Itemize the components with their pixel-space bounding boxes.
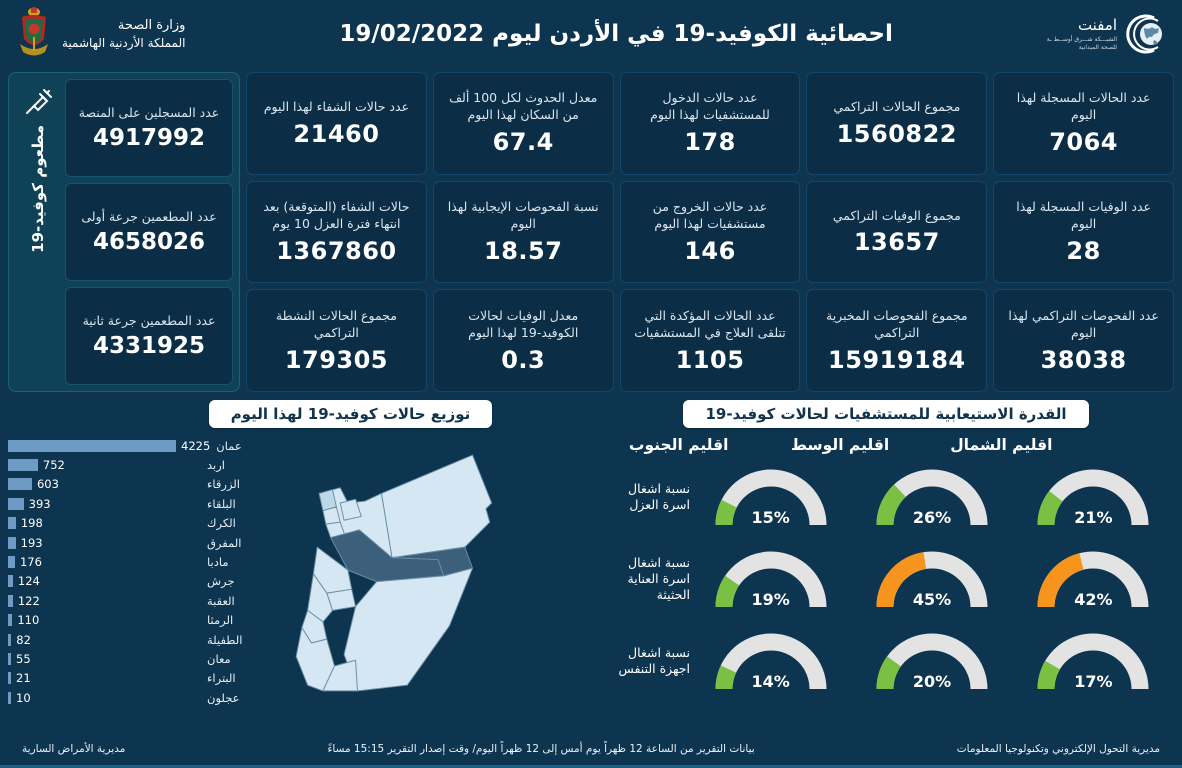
stat-card-first-dose: عدد المطعمين جرعة أولى 4658026 — [65, 183, 233, 281]
bar-track: 198 — [8, 516, 201, 530]
bar-row: جرش124 — [8, 572, 263, 591]
bar-category-label: العقبة — [201, 594, 263, 608]
dashboard-page: امفنت الشبـــكة شـــرق أوســط ـة للصحة ا… — [0, 0, 1182, 768]
stat-label: عدد الوفيات المسجلة لهذا اليوم — [1002, 199, 1165, 233]
bar-value-label: 110 — [17, 613, 39, 627]
gauge-cell: 45% — [851, 538, 1012, 620]
ministry-text: وزارة الصحة المملكة الأردنية الهاشمية — [62, 17, 185, 51]
row-label-isolation: نسبة اشغال اسرة العزل — [598, 456, 690, 538]
stat-label: عدد الفحوصات التراكمي لهذا اليوم — [1002, 308, 1165, 342]
gauge-icu-central: 45% — [873, 547, 991, 611]
bar-row: العقبة122 — [8, 591, 263, 610]
globe-icon — [1124, 12, 1168, 56]
stat-value: 179305 — [285, 346, 388, 374]
gauge-cell: 26% — [851, 456, 1012, 538]
vaccination-panel: عدد المسجلين على المنصة 4917992 عدد المط… — [8, 72, 240, 392]
gauge-cell: 15% — [690, 456, 851, 538]
bar-track: 752 — [8, 458, 201, 472]
vaccination-panel-title: مطعوم كوفيد-19 — [29, 125, 47, 253]
gauge-value: 15% — [712, 508, 830, 527]
stat-value: 4917992 — [93, 125, 205, 151]
stat-card-daily-deaths: عدد الوفيات المسجلة لهذا اليوم 28 — [993, 181, 1174, 284]
stat-label: مجموع الحالات التراكمي — [833, 99, 960, 116]
bar-row: البلقاء393 — [8, 494, 263, 513]
stat-card-total-deaths: مجموع الوفيات التراكمي 13657 — [806, 181, 987, 284]
bar-value-label: 4225 — [181, 439, 210, 453]
bar-row: اربد752 — [8, 455, 263, 474]
bar-value-label: 10 — [16, 691, 31, 705]
bar-row: عجلون10 — [8, 688, 263, 707]
stat-card-admissions: عدد حالات الدخول للمستشفيات لهذا اليوم 1… — [620, 72, 801, 175]
bar-track: 124 — [8, 574, 201, 588]
hospital-capacity-block: القدرة الاستيعابية للمستشفيات لحالات كوف… — [598, 400, 1174, 730]
page-header: امفنت الشبـــكة شـــرق أوســط ـة للصحة ا… — [0, 0, 1182, 68]
gauge-cell: 19% — [690, 538, 851, 620]
stat-value: 21460 — [293, 120, 379, 148]
syringe-icon — [21, 85, 55, 119]
stat-card-second-dose: عدد المطعمين جرعة ثانية 4331925 — [65, 287, 233, 385]
bar-fill — [8, 440, 176, 452]
partner-logo: امفنت الشبـــكة شـــرق أوســط ـة للصحة ا… — [1047, 12, 1168, 56]
gauge-ventilator-central: 20% — [873, 629, 991, 693]
stat-label: عدد المسجلين على المنصة — [79, 105, 220, 121]
stat-value: 178 — [684, 128, 736, 156]
cases-distribution-title-row: توزيع حالات كوفيد-19 لهذا اليوم — [8, 400, 598, 428]
bar-category-label: اربد — [201, 458, 263, 472]
bar-track: 110 — [8, 613, 201, 627]
ministry-name: وزارة الصحة — [62, 17, 185, 35]
stat-card-positivity-rate: نسبة الفحوصات الإيجابية لهذا اليوم 18.57 — [433, 181, 614, 284]
bar-row: المفرق193 — [8, 533, 263, 552]
gauge-value: 21% — [1034, 508, 1152, 527]
bar-value-label: 55 — [16, 652, 31, 666]
stat-card-incidence-rate: معدل الحدوث لكل 100 ألف من السكان لهذا ا… — [433, 72, 614, 175]
footer-left: مديرية التحول الإلكتروني وتكنولوجيا المع… — [957, 743, 1160, 755]
gauge-value: 20% — [873, 672, 991, 691]
gauge-column-central: 26% 45% — [851, 456, 1012, 702]
partner-name: امفنت — [1047, 16, 1117, 36]
gauge-cell: 14% — [690, 620, 851, 702]
stat-card-platform-registrations: عدد المسجلين على المنصة 4917992 — [65, 79, 233, 177]
bar-category-label: جرش — [201, 574, 263, 588]
stat-value: 18.57 — [484, 237, 562, 265]
bar-fill — [8, 614, 12, 626]
page-title: احصائية الكوفيد-19 في الأردن ليوم 19/02/… — [185, 21, 1046, 47]
bar-fill — [8, 595, 13, 607]
bar-category-label: عمان — [210, 439, 263, 453]
bar-track: 393 — [8, 497, 201, 511]
bar-fill — [8, 459, 38, 471]
jordan-coat-of-arms-icon — [14, 6, 54, 62]
stat-value: 1560822 — [837, 120, 957, 148]
stat-label: عدد المطعمين جرعة ثانية — [83, 313, 216, 329]
bar-value-label: 603 — [37, 477, 59, 491]
bar-fill — [8, 634, 11, 646]
vaccination-cards: عدد المسجلين على المنصة 4917992 عدد المط… — [65, 79, 233, 385]
gauge-columns: 21% 42% — [690, 456, 1174, 702]
bar-track: 82 — [8, 633, 201, 647]
stat-card-mortality-rate: معدل الوفيات لحالات الكوفيد-19 لهذا اليو… — [433, 289, 614, 392]
gauge-value: 26% — [873, 508, 991, 527]
stat-label: عدد حالات الخروج من مستشفيات لهذا اليوم — [629, 199, 792, 233]
bar-value-label: 193 — [21, 536, 43, 550]
stat-card-daily-cases: عدد الحالات المسجلة لهذا اليوم 7064 — [993, 72, 1174, 175]
bar-fill — [8, 672, 11, 684]
stat-column-daily: عدد الحالات المسجلة لهذا اليوم 7064 عدد … — [993, 72, 1174, 392]
stat-column-hospital: عدد حالات الدخول للمستشفيات لهذا اليوم 1… — [620, 72, 801, 392]
stats-grid: عدد الحالات المسجلة لهذا اليوم 7064 عدد … — [8, 72, 1174, 392]
bar-fill — [8, 575, 13, 587]
stat-label: مجموع الوفيات التراكمي — [833, 208, 961, 225]
bar-row: الزرقاء603 — [8, 475, 263, 494]
kingdom-name: المملكة الأردنية الهاشمية — [62, 35, 185, 51]
bar-category-label: البلقاء — [201, 497, 263, 511]
stat-label: عدد الحالات المؤكدة التي تتلقى العلاج في… — [629, 308, 792, 342]
stat-card-daily-tests: عدد الفحوصات التراكمي لهذا اليوم 38038 — [993, 289, 1174, 392]
bar-category-label: الكرك — [201, 516, 263, 530]
cases-distribution-title: توزيع حالات كوفيد-19 لهذا اليوم — [209, 400, 493, 428]
gauge-column-south: 15% 19% — [690, 456, 851, 702]
bar-track: 193 — [8, 536, 201, 550]
cases-distribution-block: توزيع حالات كوفيد-19 لهذا اليوم عمان4225… — [8, 400, 598, 730]
stat-value: 38038 — [1041, 346, 1127, 374]
gauge-value: 42% — [1034, 590, 1152, 609]
stat-label: عدد حالات الدخول للمستشفيات لهذا اليوم — [629, 90, 792, 124]
bar-category-label: المفرق — [201, 536, 263, 550]
stat-value: 146 — [684, 237, 736, 265]
stat-value: 0.3 — [501, 346, 545, 374]
bar-row: البتراء21 — [8, 669, 263, 688]
stat-column-rates: معدل الحدوث لكل 100 ألف من السكان لهذا ا… — [433, 72, 614, 392]
stat-card-total-cases: مجموع الحالات التراكمي 1560822 — [806, 72, 987, 175]
stat-label: عدد حالات الشفاء لهذا اليوم — [264, 99, 409, 116]
gauge-column-north: 21% 42% — [1013, 456, 1174, 702]
stat-label: معدل الحدوث لكل 100 ألف من السكان لهذا ا… — [442, 90, 605, 124]
row-label-icu: نسبة اشغال اسرة العناية الحثيثة — [598, 538, 690, 620]
gauge-cell: 20% — [851, 620, 1012, 702]
partner-sub-2: للصحة الميدانية — [1047, 44, 1117, 52]
gauge-icu-north: 42% — [1034, 547, 1152, 611]
bar-value-label: 176 — [20, 555, 42, 569]
bar-fill — [8, 478, 32, 490]
stat-value: 67.4 — [493, 128, 554, 156]
bar-category-label: معان — [201, 652, 263, 666]
gauge-grid: 21% 42% — [598, 456, 1174, 702]
stat-column-recovery: عدد حالات الشفاء لهذا اليوم 21460 حالات … — [246, 72, 427, 392]
gauge-row-labels: نسبة اشغال اسرة العزل نسبة اشغال اسرة ال… — [598, 456, 690, 702]
bar-category-label: الرمثا — [201, 613, 263, 627]
stat-value: 4331925 — [93, 333, 205, 359]
lower-section: القدرة الاستيعابية للمستشفيات لحالات كوف… — [8, 400, 1174, 730]
bar-category-label: عجلون — [201, 691, 263, 705]
stat-label: معدل الوفيات لحالات الكوفيد-19 لهذا اليو… — [442, 308, 605, 342]
gauge-isolation-central: 26% — [873, 465, 991, 529]
region-header-south: اقليم الجنوب — [598, 436, 759, 454]
page-footer: مديرية التحول الإلكتروني وتكنولوجيا المع… — [0, 732, 1182, 768]
bar-row: الكرك198 — [8, 514, 263, 533]
gauge-isolation-north: 21% — [1034, 465, 1152, 529]
stat-value: 1105 — [676, 346, 745, 374]
row-label-ventilator: نسبة اشغال اجهزة التنفس — [598, 620, 690, 702]
bar-fill — [8, 498, 24, 510]
gauge-value: 19% — [712, 590, 830, 609]
hospital-capacity-title-row: القدرة الاستيعابية للمستشفيات لحالات كوف… — [598, 400, 1174, 428]
bar-track: 21 — [8, 671, 201, 685]
hospital-capacity-title: القدرة الاستيعابية للمستشفيات لحالات كوف… — [683, 400, 1088, 428]
bar-track: 55 — [8, 652, 201, 666]
gauge-value: 14% — [712, 672, 830, 691]
stat-label: مجموع الحالات النشطة التراكمي — [255, 308, 418, 342]
region-headers: اقليم الشمال اقليم الوسط اقليم الجنوب — [598, 436, 1174, 454]
bar-category-label: الزرقاء — [201, 477, 263, 491]
bar-value-label: 124 — [18, 574, 40, 588]
gauge-icu-south: 19% — [712, 547, 830, 611]
bar-track: 176 — [8, 555, 201, 569]
stat-card-daily-recoveries: عدد حالات الشفاء لهذا اليوم 21460 — [246, 72, 427, 175]
bar-fill — [8, 692, 11, 704]
stat-value: 4658026 — [93, 229, 205, 255]
gauge-cell: 42% — [1013, 538, 1174, 620]
bar-category-label: الطفيلة — [201, 633, 263, 647]
stat-card-expected-recoveries: حالات الشفاء (المتوقعة) بعد انتهاء فترة … — [246, 181, 427, 284]
stat-value: 7064 — [1049, 128, 1118, 156]
bar-value-label: 21 — [16, 671, 31, 685]
jordan-map-icon — [263, 434, 598, 712]
bar-fill — [8, 517, 16, 529]
bar-value-label: 198 — [21, 516, 43, 530]
stat-value: 28 — [1066, 237, 1100, 265]
stat-column-cumulative: مجموع الحالات التراكمي 1560822 مجموع الو… — [806, 72, 987, 392]
stat-card-total-tests: مجموع الفحوصات المخبرية التراكمي 1591918… — [806, 289, 987, 392]
stat-label: حالات الشفاء (المتوقعة) بعد انتهاء فترة … — [255, 199, 418, 233]
bar-track: 4225 — [8, 439, 210, 453]
bar-row: الطفيلة82 — [8, 630, 263, 649]
partner-sub-1: الشبـــكة شـــرق أوســط ـة — [1047, 36, 1117, 44]
bar-track: 10 — [8, 691, 201, 705]
gauge-ventilator-north: 17% — [1034, 629, 1152, 693]
bar-fill — [8, 556, 15, 568]
gauge-value: 45% — [873, 590, 991, 609]
bar-fill — [8, 653, 11, 665]
stat-card-discharges: عدد حالات الخروج من مستشفيات لهذا اليوم … — [620, 181, 801, 284]
bar-value-label: 122 — [18, 594, 40, 608]
ministry-logo: وزارة الصحة المملكة الأردنية الهاشمية — [14, 6, 185, 62]
stat-value: 1367860 — [276, 237, 396, 265]
stat-label: مجموع الفحوصات المخبرية التراكمي — [815, 308, 978, 342]
bar-row: مادبا176 — [8, 552, 263, 571]
bar-category-label: البتراء — [201, 671, 263, 685]
stat-label: عدد المطعمين جرعة أولى — [81, 209, 216, 225]
vaccination-side: مطعوم كوفيد-19 — [15, 79, 61, 385]
region-header-central: اقليم الوسط — [759, 436, 920, 454]
stat-value: 15919184 — [828, 346, 966, 374]
gauge-cell: 17% — [1013, 620, 1174, 702]
bar-value-label: 393 — [29, 497, 51, 511]
footer-center: بيانات التقرير من الساعة 12 ظهراً يوم أم… — [327, 743, 754, 755]
gauge-ventilator-south: 14% — [712, 629, 830, 693]
stat-label: نسبة الفحوصات الإيجابية لهذا اليوم — [442, 199, 605, 233]
stat-value: 13657 — [854, 228, 940, 256]
footer-right: مديرية الأمراض السارية — [22, 743, 125, 755]
partner-wordmark: امفنت الشبـــكة شـــرق أوســط ـة للصحة ا… — [1047, 16, 1117, 51]
bar-track: 603 — [8, 477, 201, 491]
stat-card-in-treatment: عدد الحالات المؤكدة التي تتلقى العلاج في… — [620, 289, 801, 392]
gauge-value: 17% — [1034, 672, 1152, 691]
bar-row: معان55 — [8, 649, 263, 668]
gauge-cell: 21% — [1013, 456, 1174, 538]
region-header-north: اقليم الشمال — [921, 436, 1082, 454]
bar-fill — [8, 537, 16, 549]
chart-and-map: عمان4225اربد752الزرقاء603البلقاء393الكرك… — [8, 434, 598, 712]
bar-row: الرمثا110 — [8, 611, 263, 630]
bar-row: عمان4225 — [8, 436, 263, 455]
governorate-bar-chart: عمان4225اربد752الزرقاء603البلقاء393الكرك… — [8, 434, 263, 712]
bar-category-label: مادبا — [201, 555, 263, 569]
bar-track: 122 — [8, 594, 201, 608]
stat-label: عدد الحالات المسجلة لهذا اليوم — [1002, 90, 1165, 124]
bar-value-label: 82 — [16, 633, 31, 647]
bar-value-label: 752 — [43, 458, 65, 472]
stat-card-active-cases: مجموع الحالات النشطة التراكمي 179305 — [246, 289, 427, 392]
gauge-isolation-south: 15% — [712, 465, 830, 529]
